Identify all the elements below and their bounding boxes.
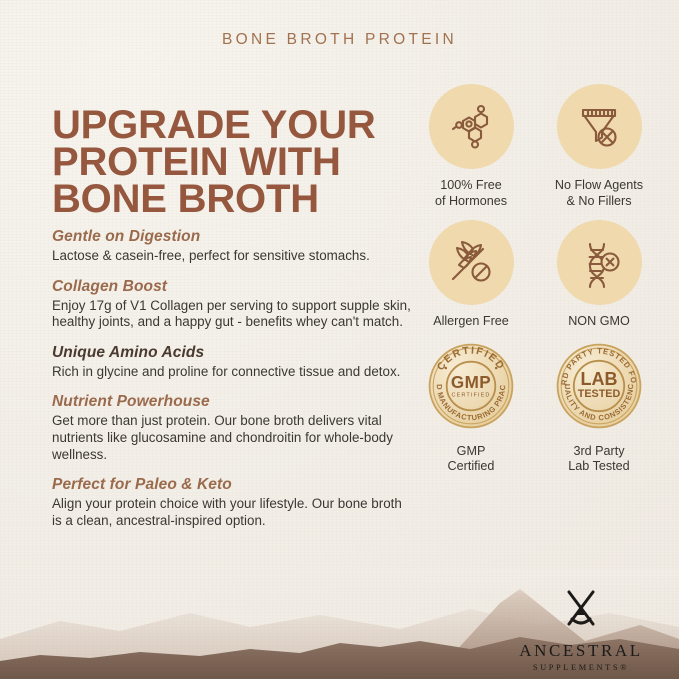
- badge-hormone-free: 100% Free of Hormones: [415, 84, 527, 209]
- badge-label-line-1: No Flow Agents: [543, 178, 655, 194]
- badge-disc: [429, 84, 514, 169]
- teepee-logo-icon: [555, 588, 607, 634]
- dna-no-gmo-icon: [571, 235, 627, 291]
- wheat-prohibited-icon: [443, 235, 499, 291]
- benefit-title: Gentle on Digestion: [52, 228, 412, 246]
- benefit-item: Unique Amino AcidsRich in glycine and pr…: [52, 344, 412, 381]
- badge-disc: [557, 220, 642, 305]
- headline-line-1: UPGRADE YOUR: [52, 107, 412, 144]
- benefit-item: Collagen BoostEnjoy 17g of V1 Collagen p…: [52, 278, 412, 331]
- badge-lab-tested: 3RD PARTY TESTED FOR QUALITY AND CONSIST…: [543, 341, 655, 475]
- benefit-item: Nutrient PowerhouseGet more than just pr…: [52, 393, 412, 463]
- molecule-hexagons-icon: [443, 99, 499, 155]
- badge-label-line-1: 3rd Party: [543, 444, 655, 460]
- badge-label-line-2: Lab Tested: [543, 459, 655, 475]
- infographic-page: BONE BROTH PROTEIN UPGRADE YOUR PROTEIN …: [0, 0, 679, 679]
- badge-label: GMP Certified: [415, 444, 527, 475]
- certification-badges: 100% Free of Hormones: [415, 84, 655, 486]
- benefit-description: Rich in glycine and proline for connecti…: [52, 364, 412, 381]
- gmp-certified-seal-icon: CERTIFIED GOOD MANUFACTURING PRACTICE GM…: [426, 341, 516, 431]
- badge-label: No Flow Agents & No Fillers: [543, 178, 655, 209]
- benefit-title: Unique Amino Acids: [52, 344, 412, 362]
- benefit-title: Collagen Boost: [52, 278, 412, 296]
- benefit-title: Perfect for Paleo & Keto: [52, 476, 412, 494]
- seal-center-main: LAB: [581, 369, 618, 389]
- badge-disc: [557, 84, 642, 169]
- benefits-list: Gentle on DigestionLactose & casein-free…: [52, 228, 412, 542]
- badge-label-line-1: Allergen Free: [415, 314, 527, 330]
- benefit-description: Get more than just protein. Our bone bro…: [52, 413, 412, 463]
- badge-non-gmo: NON GMO: [543, 220, 655, 330]
- badge-label: 3rd Party Lab Tested: [543, 444, 655, 475]
- badge-gmp-certified: CERTIFIED GOOD MANUFACTURING PRACTICE GM…: [415, 341, 527, 475]
- badge-disc: [429, 220, 514, 305]
- seal-center-main: GMP: [451, 372, 491, 391]
- headline-line-3: BONE BROTH: [52, 181, 412, 218]
- badge-label-line-1: GMP: [415, 444, 527, 460]
- benefit-item: Perfect for Paleo & KetoAlign your prote…: [52, 476, 412, 529]
- lab-tested-seal-icon: 3RD PARTY TESTED FOR QUALITY AND CONSIST…: [554, 341, 644, 431]
- badge-label-line-1: NON GMO: [543, 314, 655, 330]
- badge-label-line-2: of Hormones: [415, 194, 527, 210]
- benefit-description: Lactose & casein-free, perfect for sensi…: [52, 248, 412, 265]
- badge-label-line-2: Certified: [415, 459, 527, 475]
- benefit-item: Gentle on DigestionLactose & casein-free…: [52, 228, 412, 265]
- seal-center-sub: CERTIFIED: [452, 392, 491, 398]
- seal-center-sub: TESTED: [578, 387, 621, 399]
- badge-label: Allergen Free: [415, 314, 527, 330]
- funnel-no-fillers-icon: [571, 99, 627, 155]
- badge-row-3: CERTIFIED GOOD MANUFACTURING PRACTICE GM…: [415, 341, 655, 475]
- badge-label-line-2: & No Fillers: [543, 194, 655, 210]
- headline-line-2: PROTEIN WITH: [52, 144, 412, 181]
- badge-label-line-1: 100% Free: [415, 178, 527, 194]
- badge-row-1: 100% Free of Hormones: [415, 84, 655, 209]
- badge-no-flow-agents: No Flow Agents & No Fillers: [543, 84, 655, 209]
- badge-row-2: Allergen Free: [415, 220, 655, 330]
- badge-label: NON GMO: [543, 314, 655, 330]
- brand-name: ANCESTRAL: [506, 641, 656, 661]
- brand-logo: ANCESTRAL SUPPLEMENTS®: [506, 588, 656, 672]
- benefit-description: Enjoy 17g of V1 Collagen per serving to …: [52, 298, 412, 331]
- eyebrow-label: BONE BROTH PROTEIN: [0, 31, 679, 49]
- badge-label: 100% Free of Hormones: [415, 178, 527, 209]
- page-title: UPGRADE YOUR PROTEIN WITH BONE BROTH: [52, 107, 412, 218]
- benefit-title: Nutrient Powerhouse: [52, 393, 412, 411]
- badge-allergen-free: Allergen Free: [415, 220, 527, 330]
- brand-subtitle: SUPPLEMENTS®: [506, 663, 656, 672]
- benefit-description: Align your protein choice with your life…: [52, 496, 412, 529]
